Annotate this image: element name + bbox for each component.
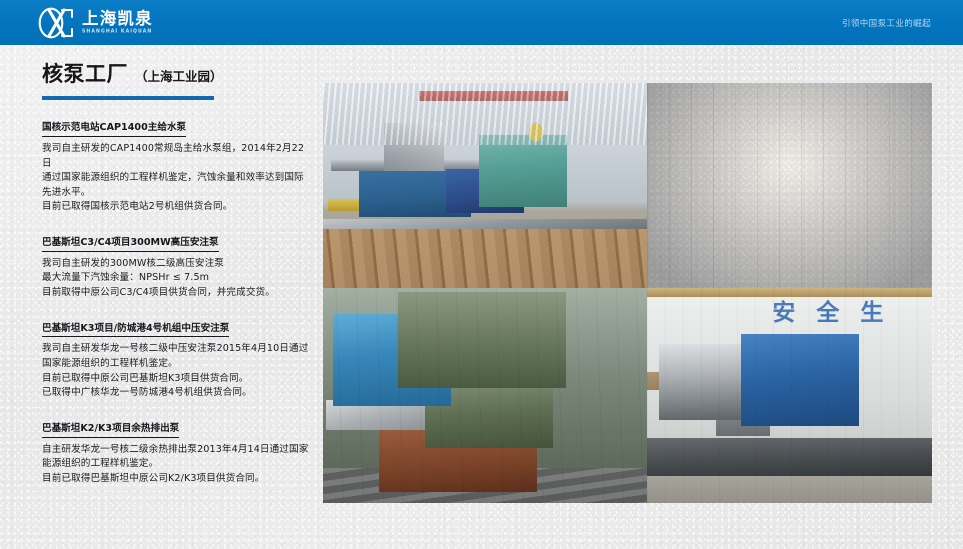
brand-logo[interactable]: 上海凯泉 SHANGHAI KAIQUAN	[38, 6, 153, 40]
wall-char: 生	[860, 293, 884, 327]
info-block-heading: 巴基斯坦K3项目/防城港4号机组中压安注泵	[42, 323, 229, 338]
photo-gallery-grid: 安 全 生	[323, 83, 932, 503]
info-block-heading: 巴基斯坦K2/K3项目余热排出泵	[42, 423, 179, 438]
info-block-body: 自主研发华龙一号核二级余热排出泵2013年4月14日通过国家 能源组织的工程样机…	[42, 443, 310, 487]
header-bar: 上海凯泉 SHANGHAI KAIQUAN 引领中国泵工业的崛起	[0, 0, 963, 45]
info-line: 通过国家能源组织的工程样机鉴定，汽蚀余量和效率达到国际	[42, 171, 310, 186]
info-line: 先进水平。	[42, 186, 310, 201]
info-line: 我司自主研发华龙一号核二级中压安注泵2015年4月10日通过	[42, 342, 310, 357]
title-underline-rule	[42, 96, 214, 100]
info-line: 我司自主研发的CAP1400常规岛主给水泵组，2014年2月22日	[42, 142, 310, 171]
info-block-heading: 巴基斯坦C3/C4项目300MW高压安注泵	[42, 237, 219, 252]
info-block-cap1400: 国核示范电站CAP1400主给水泵 我司自主研发的CAP1400常规岛主给水泵组…	[42, 115, 310, 215]
info-line: 国家能源组织的工程样机鉴定。	[42, 357, 310, 372]
wall-char: 全	[816, 293, 840, 327]
info-line: 自主研发华龙一号核二级余热排出泵2013年4月14日通过国家	[42, 443, 310, 458]
brand-name-en: SHANGHAI KAIQUAN	[82, 30, 153, 35]
content-column: 核泵工厂 （上海工业园） 国核示范电站CAP1400主给水泵 我司自主研发的CA…	[42, 58, 310, 486]
photo-olive-pump-hall	[647, 83, 932, 288]
brand-name-cn: 上海凯泉	[82, 11, 153, 28]
info-block-c3c4: 巴基斯坦C3/C4项目300MW高压安注泵 我司自主研发的300MW核二级高压安…	[42, 230, 310, 301]
info-line: 最大流量下汽蚀余量：NPSHr ≤ 7.5m	[42, 271, 310, 286]
page-title: 核泵工厂 （上海工业园）	[42, 58, 310, 88]
kaiquan-monogram-icon	[38, 7, 75, 39]
info-line: 已取得中广核华龙一号防城港4号机组供货合同。	[42, 386, 310, 401]
slide-root: 上海凯泉 SHANGHAI KAIQUAN 引领中国泵工业的崛起 核泵工厂 （上…	[0, 0, 963, 549]
info-line: 目前已取得中原公司巴基斯坦K3项目供货合同。	[42, 372, 310, 387]
info-block-k2k3: 巴基斯坦K2/K3项目余热排出泵 自主研发华龙一号核二级余热排出泵2013年4月…	[42, 416, 310, 487]
wall-char: 安	[772, 293, 796, 327]
info-line: 目前取得中原公司C3/C4项目供货合同，并完成交货。	[42, 286, 310, 301]
photo-steel-pump-blue-motor: 安 全 生	[647, 288, 932, 503]
info-line: 我司自主研发的300MW核二级高压安注泵	[42, 257, 310, 272]
info-line: 能源组织的工程样机鉴定。	[42, 457, 310, 472]
info-line: 目前已取得国核示范电站2号机组供货合同。	[42, 200, 310, 215]
info-block-body: 我司自主研发华龙一号核二级中压安注泵2015年4月10日通过 国家能源组织的工程…	[42, 342, 310, 400]
info-block-body: 我司自主研发的300MW核二级高压安注泵 最大流量下汽蚀余量：NPSHr ≤ 7…	[42, 257, 310, 301]
header-tagline: 引领中国泵工业的崛起	[842, 0, 931, 45]
info-block-heading: 国核示范电站CAP1400主给水泵	[42, 122, 186, 137]
photo-blue-motor-green-pump	[323, 288, 647, 503]
page-title-sub: （上海工业园）	[135, 66, 223, 85]
info-block-body: 我司自主研发的CAP1400常规岛主给水泵组，2014年2月22日 通过国家能源…	[42, 142, 310, 215]
brand-wordmark: 上海凯泉 SHANGHAI KAIQUAN	[82, 11, 153, 35]
photo-factory-floor	[323, 83, 647, 288]
wall-safety-sign: 安 全 生	[772, 293, 884, 327]
info-line: 目前已取得巴基斯坦中原公司K2/K3项目供货合同。	[42, 472, 310, 487]
page-title-main: 核泵工厂	[42, 58, 128, 88]
info-block-k3: 巴基斯坦K3项目/防城港4号机组中压安注泵 我司自主研发华龙一号核二级中压安注泵…	[42, 316, 310, 401]
